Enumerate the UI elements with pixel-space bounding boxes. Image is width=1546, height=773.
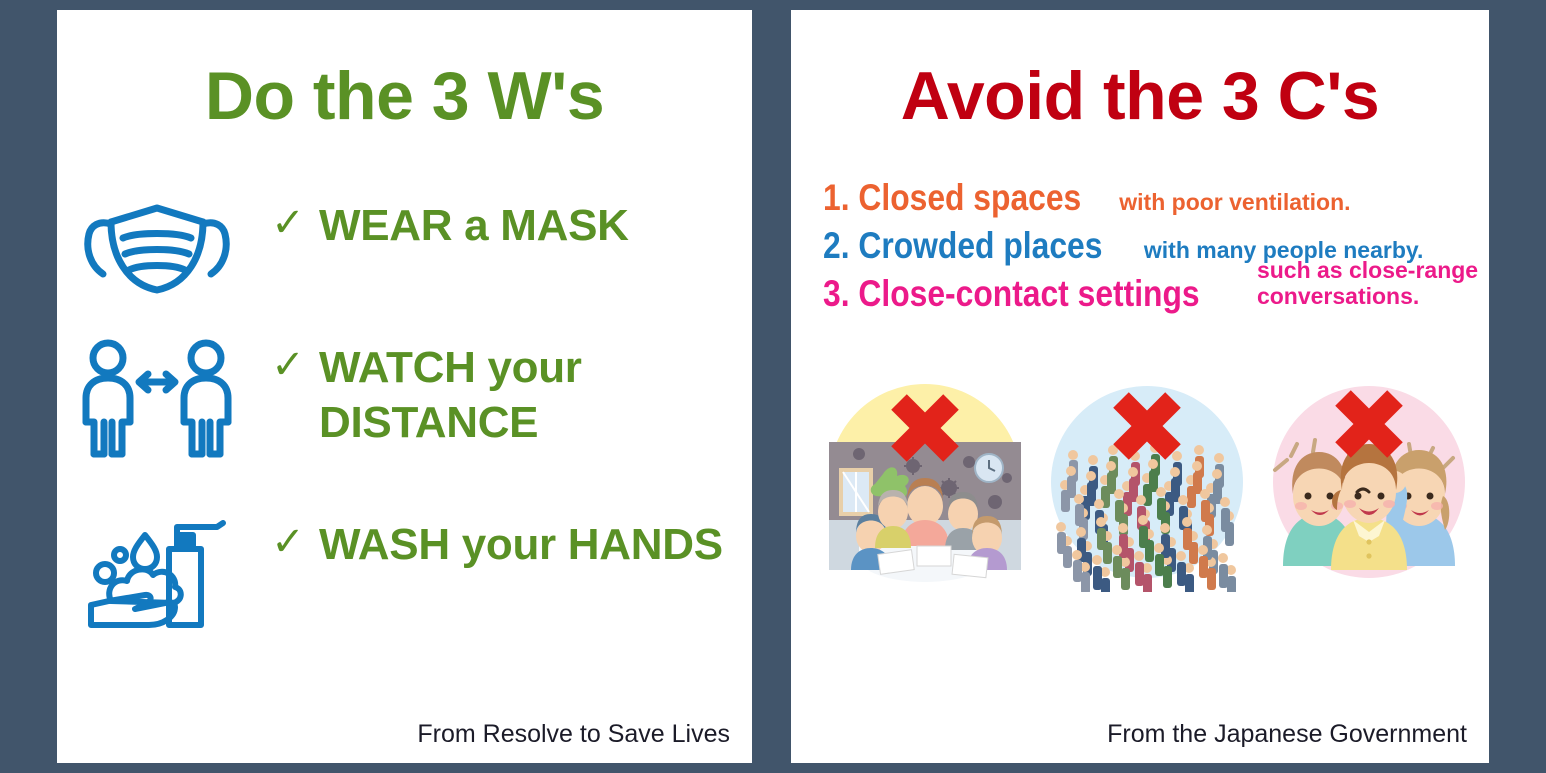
list-item: ✓ WATCH your DISTANCE [57,332,752,487]
source-credit-right: From the Japanese Government [1107,720,1467,749]
list-item-heading: 3. Close-contact settings [823,274,1200,313]
list-item-label: WATCH your DISTANCE [319,332,752,450]
source-credit-left: From Resolve to Save Lives [417,720,730,749]
list-item: ✓ WASH your HANDS [57,509,752,664]
check-icon: ✓ [257,332,319,386]
list-item-label: WEAR a MASK [319,190,752,253]
illustration-row [817,370,1477,592]
list-item-detail: with poor ventilation. [1119,190,1350,216]
three-cs-card: Avoid the 3 C's 1. Closed spaces with po… [791,10,1489,763]
list-item-detail: such as close-range conversations. [1257,258,1478,309]
meeting-room-poor-ventilation-illustration [817,370,1033,592]
three-cs-list: 1. Closed spaces with poor ventilation. … [823,178,1483,334]
list-item: 1. Closed spaces with poor ventilation. [823,178,1483,217]
social-distance-icon [57,332,257,463]
check-icon: ✓ [257,190,319,244]
close-range-conversation-illustration [1261,370,1477,592]
infographic-board: Do the 3 W's [0,0,1546,773]
list-item-label: WASH your HANDS [319,509,752,572]
list-item-heading: 1. Closed spaces [823,178,1081,217]
three-ws-list: ✓ WEAR a MASK [57,190,752,686]
three-ws-card: Do the 3 W's [57,10,752,763]
page-title-left: Do the 3 W's [57,62,752,130]
check-icon: ✓ [257,509,319,563]
list-item: ✓ WEAR a MASK [57,190,752,310]
list-item: 3. Close-contact settings such as close-… [823,274,1483,325]
list-item-heading: 2. Crowded places [823,226,1102,265]
face-mask-icon [57,190,257,304]
page-title-right: Avoid the 3 C's [791,62,1489,130]
large-crowd-illustration [1039,370,1255,592]
hand-wash-icon [57,509,257,633]
